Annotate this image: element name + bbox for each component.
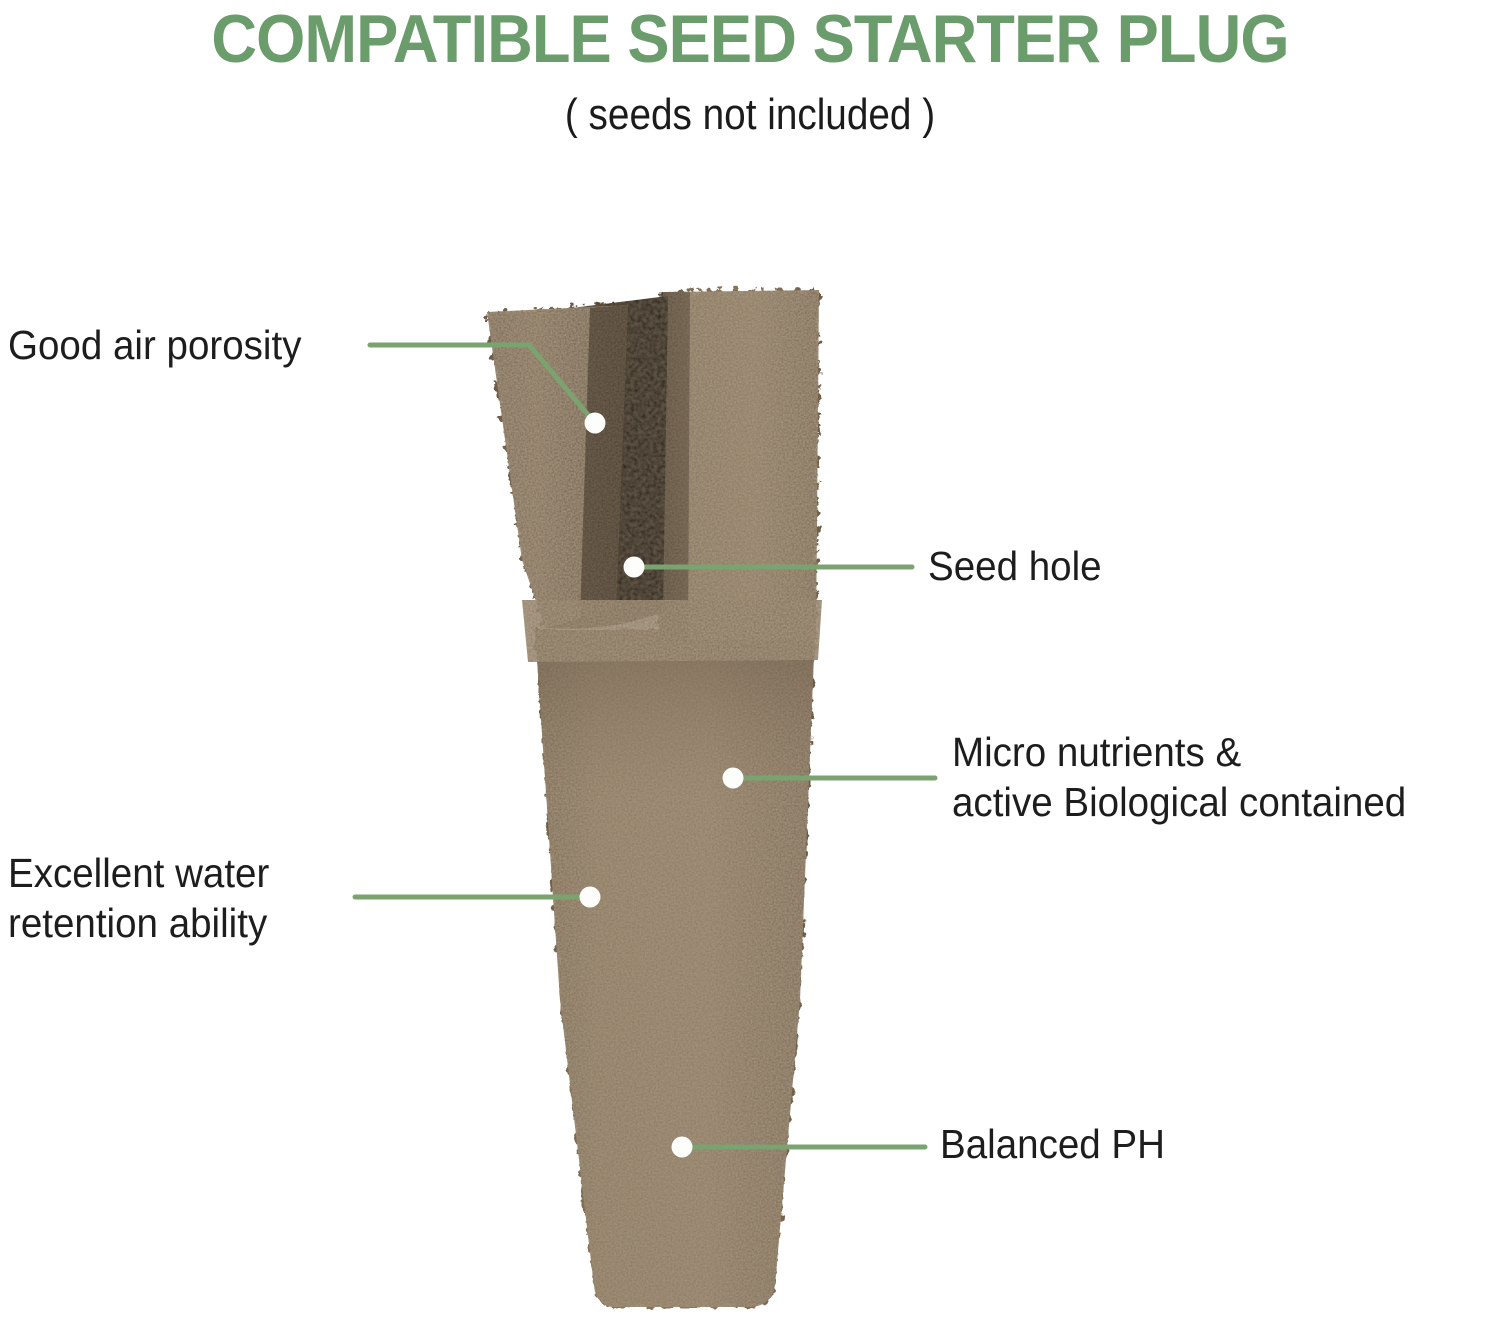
callout-label-seed-hole: Seed hole — [928, 541, 1102, 591]
callout-label-balanced-ph: Balanced PH — [940, 1119, 1165, 1169]
page-title: COMPATIBLE SEED STARTER PLUG — [53, 2, 1448, 76]
callout-label-micro-nutrients: Micro nutrients & active Biological cont… — [952, 727, 1406, 827]
page-subtitle: ( seeds not included ) — [90, 88, 1410, 142]
anchor-dot-seed-hole — [624, 557, 645, 578]
plug-right-column — [659, 290, 819, 640]
anchor-dot-water-retention — [580, 887, 601, 908]
plug-seam — [522, 600, 822, 662]
seed-hole-cavity — [548, 296, 668, 629]
anchor-dot-micro-nutrients — [723, 768, 744, 789]
plug-left-column — [487, 305, 628, 628]
plug-lower-body — [535, 630, 815, 1307]
leader-good-air-porosity — [370, 345, 595, 423]
seed-starter-plug-illustration — [0, 0, 1500, 1325]
leader-lines — [355, 345, 935, 1147]
anchor-dot-good-air-porosity — [585, 413, 606, 434]
product-infographic: COMPATIBLE SEED STARTER PLUG ( seeds not… — [0, 0, 1500, 1325]
anchor-dot-balanced-ph — [672, 1137, 693, 1158]
callout-label-good-air-porosity: Good air porosity — [8, 320, 301, 370]
callout-label-water-retention: Excellent water retention ability — [8, 848, 269, 948]
anchor-dots — [580, 413, 744, 1158]
